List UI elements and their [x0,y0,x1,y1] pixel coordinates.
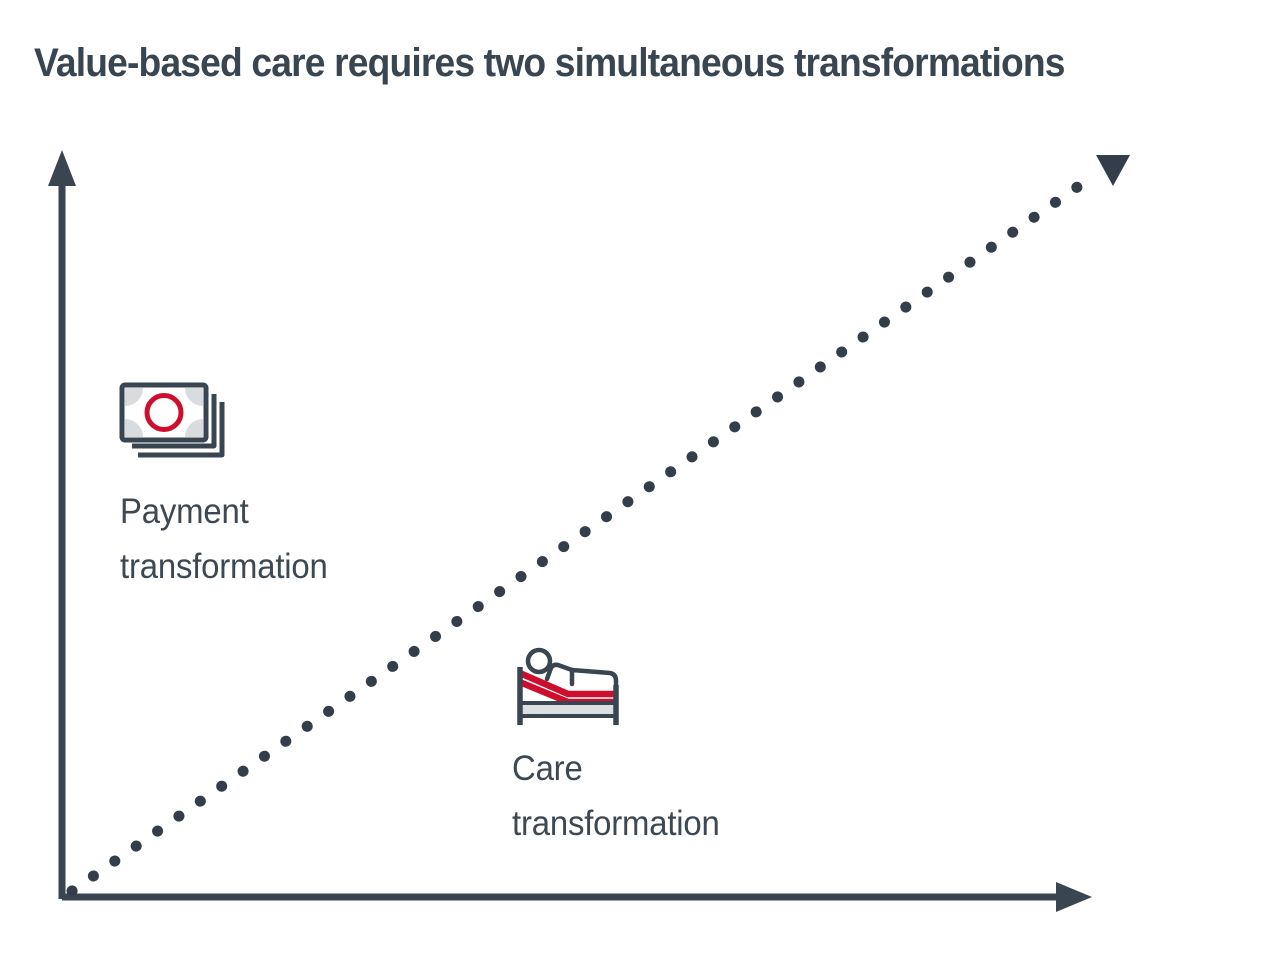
y-axis [48,150,76,899]
marker-care-transformation: Care transformation [510,645,733,852]
marker-payment-label: Payment transformation [120,484,328,595]
patient-torso [547,665,572,684]
patient-legs [572,670,616,689]
slide-root: Value-based care requires two simultaneo… [0,0,1280,960]
patient-in-bed-icon [510,645,630,725]
marker-payment-label-line-2: transformation [120,539,328,594]
marker-payment-label-line-1: Payment [120,484,328,539]
marker-care-label-line-1: Care [512,741,720,796]
marker-care-label-line-2: transformation [512,796,720,851]
marker-payment-transformation: Payment transformation [118,380,341,595]
money-stack-icon [118,380,236,472]
x-axis-arrowhead-icon [1056,882,1092,912]
y-axis-arrowhead-icon [48,150,76,186]
trend-arrowhead-icon [1096,155,1130,186]
marker-care-label: Care transformation [512,741,720,852]
x-axis [62,882,1092,912]
patient-head [528,650,550,672]
